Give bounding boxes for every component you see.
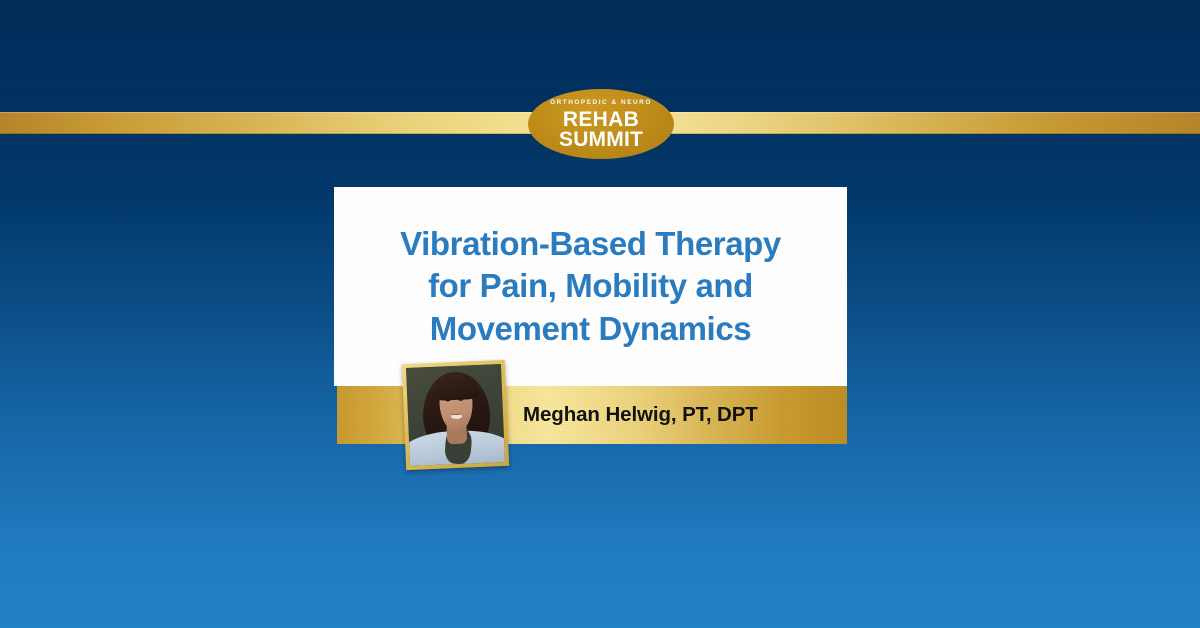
promo-banner: ORTHOPEDIC & NEURO REHAB SUMMIT Vibratio… [0,0,1200,628]
session-title-line-3: Movement Dynamics [346,308,835,350]
session-title-line-1: Vibration-Based Therapy [346,223,835,265]
session-title-line-2: for Pain, Mobility and [346,265,835,307]
speaker-headshot-photo: Headshot of Meghan Helwig [406,364,505,466]
logo-line-2: SUMMIT [559,128,643,151]
session-title: Vibration-Based Therapy for Pain, Mobili… [334,223,847,350]
title-card: Vibration-Based Therapy for Pain, Mobili… [334,187,847,386]
speaker-headshot: Headshot of Meghan Helwig [402,360,509,470]
logo-wordmark: REHAB SUMMIT [559,110,643,150]
rehab-summit-logo[interactable]: ORTHOPEDIC & NEURO REHAB SUMMIT [528,89,674,159]
logo-kicker-text: ORTHOPEDIC & NEURO [550,100,652,106]
speaker-name: Meghan Helwig, PT, DPT [523,403,758,427]
